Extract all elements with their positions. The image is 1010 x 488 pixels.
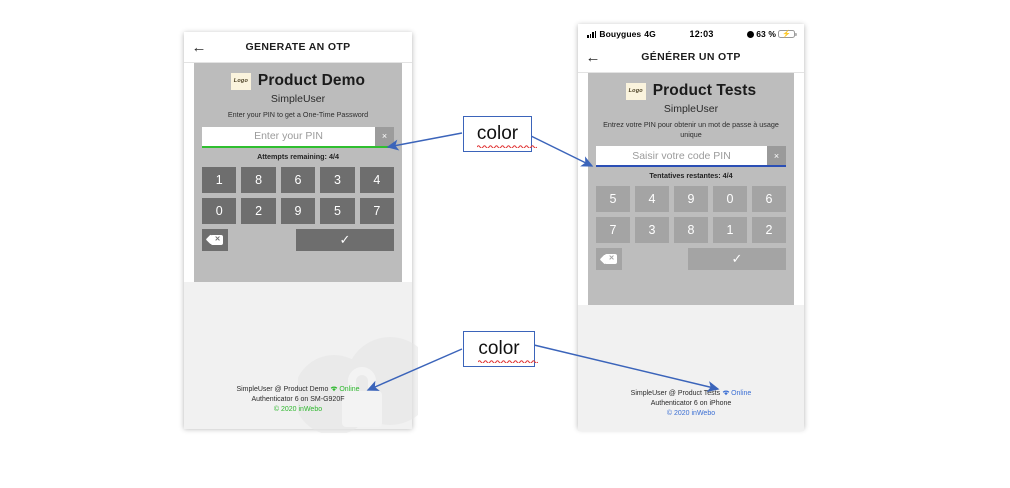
right-keypad-actions: ✕ ✓ bbox=[596, 248, 786, 270]
wifi-icon bbox=[722, 390, 730, 396]
padlock-watermark-icon bbox=[298, 323, 418, 433]
logo-icon: Logo bbox=[626, 83, 646, 100]
left-footer-device: Authenticator 6 on SM-G920F bbox=[184, 395, 412, 405]
android-phone-mockup: ← GENERATE AN OTP Logo Product Demo Simp… bbox=[184, 32, 412, 428]
left-pin-input[interactable]: Enter your PIN bbox=[202, 127, 375, 146]
left-pin-input-group: Enter your PIN × bbox=[202, 127, 394, 148]
backspace-icon: ✕ bbox=[602, 254, 617, 264]
right-page-title: GÉNÉRER UN OTP bbox=[578, 51, 804, 63]
right-keypad: 5490673812 bbox=[596, 186, 786, 243]
right-footer: SimpleUser @ Product Tests Online Authen… bbox=[578, 389, 804, 419]
left-footer-identity: SimpleUser @ Product Demo Online bbox=[184, 385, 412, 395]
callout-box-color-bottom: color bbox=[463, 331, 535, 367]
left-key-4[interactable]: 4 bbox=[360, 167, 394, 193]
right-pin-clear-button[interactable]: × bbox=[767, 146, 786, 165]
back-arrow-icon[interactable]: ← bbox=[184, 40, 214, 55]
right-otp-card: Logo Product Tests SimpleUser Entrez vot… bbox=[588, 73, 794, 305]
right-user-name: SimpleUser bbox=[596, 103, 786, 115]
callout-top-label: color bbox=[477, 123, 518, 144]
right-confirm-key[interactable]: ✓ bbox=[688, 248, 786, 270]
spellcheck-squiggle-icon bbox=[477, 144, 537, 148]
wifi-icon bbox=[330, 386, 338, 392]
status-bar-right: 63 % ⚡ bbox=[747, 29, 795, 39]
right-instruction-text: Entrez votre PIN pour obtenir un mot de … bbox=[596, 120, 786, 139]
right-key-7[interactable]: 7 bbox=[596, 217, 630, 243]
left-pin-clear-button[interactable]: × bbox=[375, 127, 394, 146]
right-footer-copyright: © 2020 inWebo bbox=[578, 409, 804, 419]
carrier-name: Bouygues bbox=[599, 29, 641, 39]
right-key-2[interactable]: 2 bbox=[752, 217, 786, 243]
callout-box-color-top: color bbox=[463, 116, 532, 152]
left-footer-status: Online bbox=[330, 386, 359, 393]
right-key-4[interactable]: 4 bbox=[635, 186, 669, 212]
left-footer-identity-text: SimpleUser @ Product Demo bbox=[236, 386, 328, 393]
left-footer-copyright: © 2020 inWebo bbox=[184, 405, 412, 415]
callout-bottom-label: color bbox=[478, 338, 519, 359]
left-pin-underline bbox=[202, 146, 394, 148]
right-pin-input[interactable]: Saisir votre code PIN bbox=[596, 146, 767, 165]
right-pin-input-group: Saisir votre code PIN × bbox=[596, 146, 786, 167]
left-backspace-key[interactable]: ✕ bbox=[202, 229, 228, 251]
right-backspace-key[interactable]: ✕ bbox=[596, 248, 622, 270]
left-keypad-row: 18634 bbox=[202, 167, 394, 193]
left-brand-name: Product Demo bbox=[258, 72, 365, 90]
left-brand-row: Logo Product Demo bbox=[202, 72, 394, 90]
left-key-9[interactable]: 9 bbox=[281, 198, 315, 224]
left-phone-body: SimpleUser @ Product Demo Online Authent… bbox=[184, 282, 412, 429]
right-action-spacer bbox=[627, 248, 683, 270]
right-key-0[interactable]: 0 bbox=[713, 186, 747, 212]
right-attempts-remaining: Tentatives restantes: 4/4 bbox=[596, 171, 786, 180]
right-pin-placeholder: Saisir votre code PIN bbox=[632, 150, 731, 162]
left-pin-placeholder: Enter your PIN bbox=[254, 130, 323, 142]
left-key-5[interactable]: 5 bbox=[320, 198, 354, 224]
left-keypad: 1863402957 bbox=[202, 167, 394, 224]
left-user-name: SimpleUser bbox=[202, 93, 394, 105]
left-key-6[interactable]: 6 bbox=[281, 167, 315, 193]
left-key-3[interactable]: 3 bbox=[320, 167, 354, 193]
logo-icon: Logo bbox=[231, 73, 251, 90]
left-footer: SimpleUser @ Product Demo Online Authent… bbox=[184, 385, 412, 415]
network-type: 4G bbox=[644, 29, 656, 39]
left-attempts-remaining: Attempts remaining: 4/4 bbox=[202, 152, 394, 161]
left-action-spacer bbox=[233, 229, 291, 251]
backspace-icon: ✕ bbox=[208, 235, 223, 245]
right-brand-row: Logo Product Tests bbox=[596, 82, 786, 100]
right-key-6[interactable]: 6 bbox=[752, 186, 786, 212]
annotation-arrows bbox=[0, 0, 1010, 488]
left-title-bar: ← GENERATE AN OTP bbox=[184, 32, 412, 63]
status-bar-left: Bouygues 4G bbox=[587, 29, 656, 39]
battery-low-power-icon: ⚡ bbox=[778, 30, 795, 39]
right-key-1[interactable]: 1 bbox=[713, 217, 747, 243]
right-footer-device: Authenticator 6 on iPhone bbox=[578, 399, 804, 409]
right-phone-body: SimpleUser @ Product Tests Online Authen… bbox=[578, 305, 804, 431]
left-key-1[interactable]: 1 bbox=[202, 167, 236, 193]
right-footer-status: Online bbox=[722, 390, 751, 397]
battery-percent: 63 % bbox=[756, 29, 776, 39]
iphone-mockup: Bouygues 4G 12:03 63 % ⚡ ← GÉNÉRER UN OT… bbox=[578, 24, 804, 428]
right-brand-name: Product Tests bbox=[653, 82, 757, 100]
right-footer-identity: SimpleUser @ Product Tests Online bbox=[578, 389, 804, 399]
right-title-bar: ← GÉNÉRER UN OTP bbox=[578, 42, 804, 73]
left-otp-card: Logo Product Demo SimpleUser Enter your … bbox=[194, 63, 402, 282]
left-page-title: GENERATE AN OTP bbox=[184, 41, 412, 53]
right-keypad-row: 54906 bbox=[596, 186, 786, 212]
right-keypad-row: 73812 bbox=[596, 217, 786, 243]
right-key-9[interactable]: 9 bbox=[674, 186, 708, 212]
left-keypad-row: 02957 bbox=[202, 198, 394, 224]
right-pin-underline bbox=[596, 165, 786, 167]
alarm-icon bbox=[747, 31, 754, 38]
spellcheck-squiggle-icon bbox=[478, 359, 538, 363]
status-bar-clock: 12:03 bbox=[656, 29, 747, 39]
screenshot-canvas: ← GENERATE AN OTP Logo Product Demo Simp… bbox=[0, 0, 1010, 488]
right-footer-identity-text: SimpleUser @ Product Tests bbox=[631, 390, 720, 397]
right-key-8[interactable]: 8 bbox=[674, 217, 708, 243]
left-instruction-text: Enter your PIN to get a One-Time Passwor… bbox=[202, 110, 394, 120]
right-key-5[interactable]: 5 bbox=[596, 186, 630, 212]
right-key-3[interactable]: 3 bbox=[635, 217, 669, 243]
left-key-0[interactable]: 0 bbox=[202, 198, 236, 224]
left-confirm-key[interactable]: ✓ bbox=[296, 229, 394, 251]
back-arrow-icon[interactable]: ← bbox=[578, 50, 608, 65]
signal-bars-icon bbox=[587, 30, 596, 38]
ios-status-bar: Bouygues 4G 12:03 63 % ⚡ bbox=[578, 24, 804, 42]
left-key-7[interactable]: 7 bbox=[360, 198, 394, 224]
left-key-2[interactable]: 2 bbox=[241, 198, 275, 224]
left-key-8[interactable]: 8 bbox=[241, 167, 275, 193]
left-keypad-actions: ✕ ✓ bbox=[202, 229, 394, 251]
